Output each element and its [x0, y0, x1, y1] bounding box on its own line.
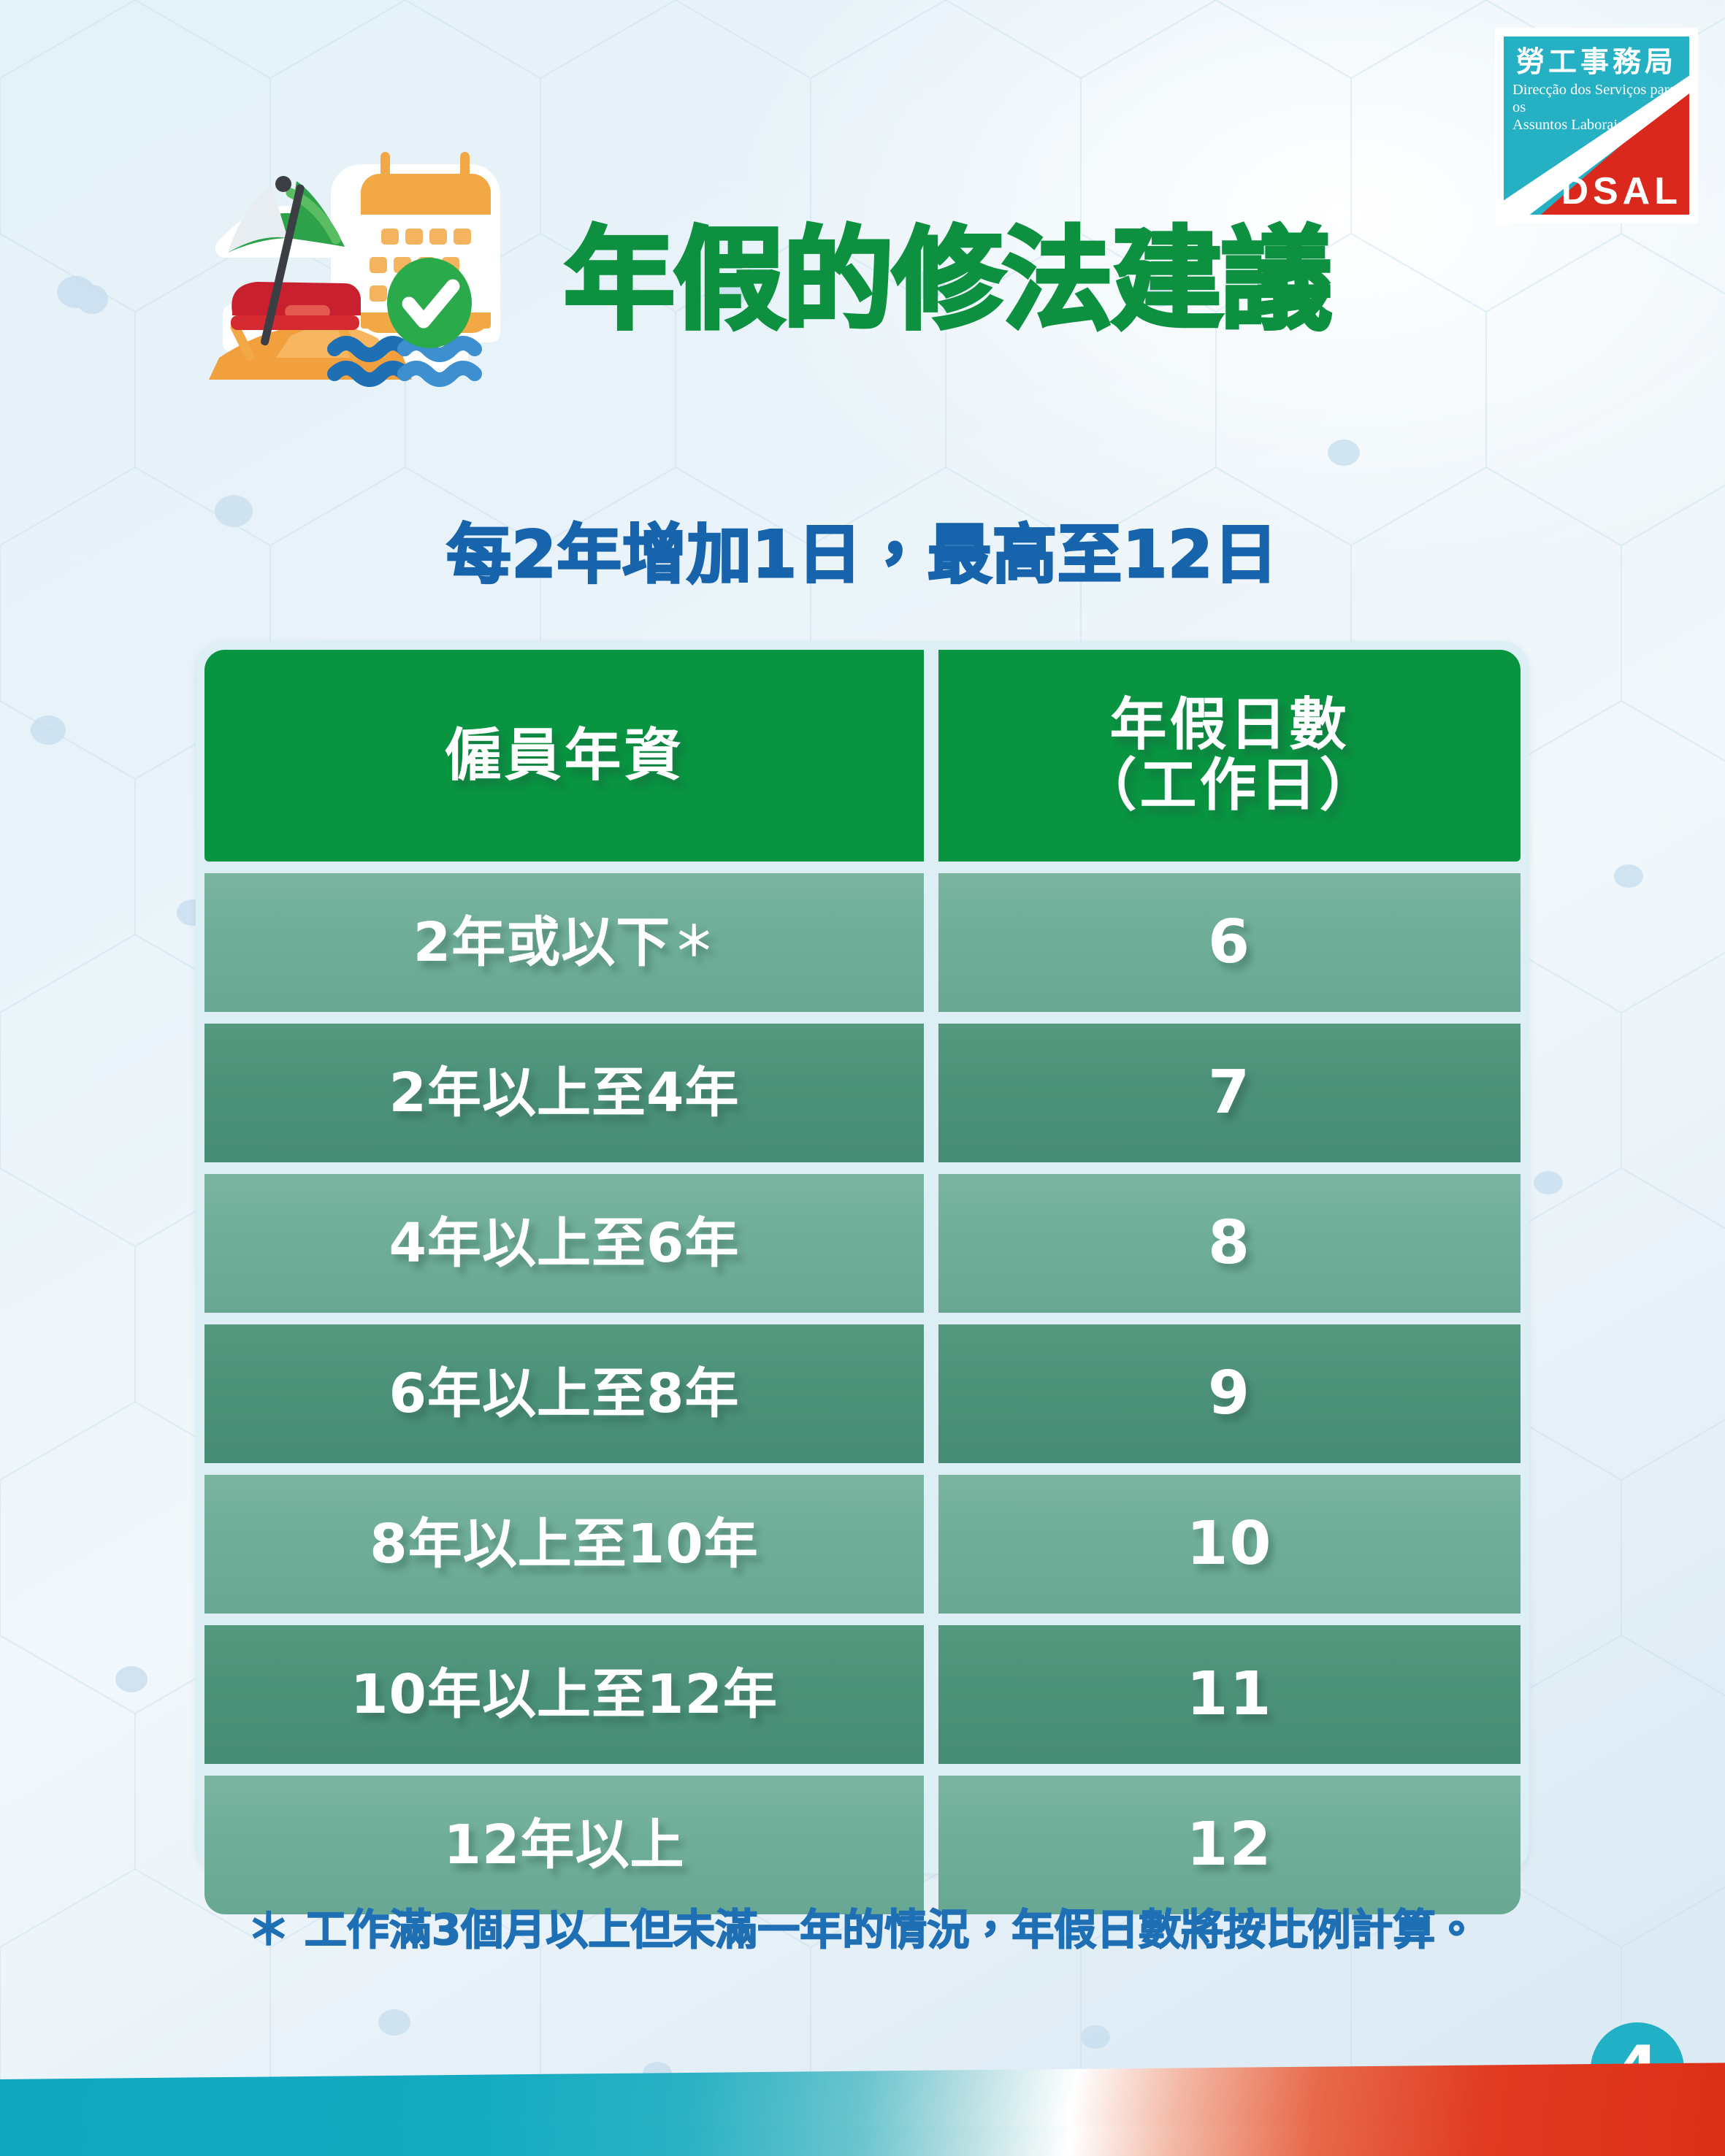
column-divider	[924, 1625, 938, 1764]
logo-portuguese-name: Direcção dos Serviços para os Assuntos L…	[1512, 82, 1682, 134]
cell-seniority: 4年以上至6年	[389, 1215, 740, 1272]
cell-seniority: 10年以上至12年	[351, 1666, 778, 1723]
cell-seniority: 2年以上至4年	[389, 1064, 740, 1121]
table-row: 2年或以下＊	[204, 873, 924, 1012]
annual-leave-table: 僱員年資 年假日數 （工作日） 2年或以下＊ 6 2年以上至4年 7	[196, 641, 1529, 1873]
footnote-text: ＊ 工作滿3個月以上但未滿一年的情況，年假日數將按比例計算。	[0, 1895, 1725, 1957]
column-divider	[924, 650, 938, 862]
table-grid: 僱員年資 年假日數 （工作日） 2年或以下＊ 6 2年以上至4年 7	[204, 650, 1521, 1865]
footnote-marker: ＊	[673, 921, 715, 964]
table-row: 10年以上至12年	[204, 1625, 924, 1764]
cell-days: 7	[938, 1024, 1521, 1162]
column-divider	[924, 1776, 938, 1914]
table-header-seniority: 僱員年資	[204, 650, 924, 862]
vacation-illustration	[203, 117, 575, 409]
page-subtitle: 每2年增加1日，最高至12日	[0, 523, 1725, 587]
page-title: 年假的修法建議	[564, 225, 1331, 336]
check-mark-icon	[387, 258, 472, 348]
column-divider	[924, 873, 938, 1012]
cell-days: 10	[938, 1475, 1521, 1614]
cell-days: 9	[938, 1324, 1521, 1463]
dsal-logo: 勞工事務局 Direcção dos Serviços para os Assu…	[1495, 28, 1698, 223]
cell-days: 8	[938, 1174, 1521, 1313]
table-row: 6年以上至8年	[204, 1324, 924, 1463]
table-header-days-line-1: 年假日數	[1079, 695, 1379, 756]
cell-seniority: 6年以上至8年	[389, 1365, 740, 1422]
logo-portuguese-line-2: Assuntos Laborais	[1512, 117, 1682, 134]
logo-portuguese-line-1: Direcção dos Serviços para os	[1512, 82, 1682, 117]
cell-seniority: 2年或以下	[413, 914, 671, 971]
logo-chinese-name: 勞工事務局	[1504, 48, 1689, 77]
cell-days: 12	[938, 1776, 1521, 1914]
infographic-page: 勞工事務局 Direcção dos Serviços para os Assu…	[0, 0, 1725, 2156]
cell-seniority: 12年以上	[444, 1817, 685, 1873]
logo-abbreviation: DSAL	[1561, 172, 1682, 210]
cell-days: 11	[938, 1625, 1521, 1764]
table-row: 4年以上至6年	[204, 1174, 924, 1313]
logo-inner-panel: 勞工事務局 Direcção dos Serviços para os Assu…	[1504, 37, 1689, 215]
column-divider	[924, 1324, 938, 1463]
table-row: 12年以上	[204, 1776, 924, 1914]
table-header-days-line-2: （工作日）	[1079, 756, 1379, 816]
table-row: 2年以上至4年	[204, 1024, 924, 1162]
bottom-gradient-bar-base	[0, 2125, 1725, 2156]
column-divider	[924, 1024, 938, 1162]
cell-days: 6	[938, 873, 1521, 1012]
column-divider	[924, 1174, 938, 1313]
table-row: 8年以上至10年	[204, 1475, 924, 1614]
table-header-days: 年假日數 （工作日）	[938, 650, 1521, 862]
cell-seniority: 8年以上至10年	[370, 1516, 758, 1573]
column-divider	[924, 1475, 938, 1614]
